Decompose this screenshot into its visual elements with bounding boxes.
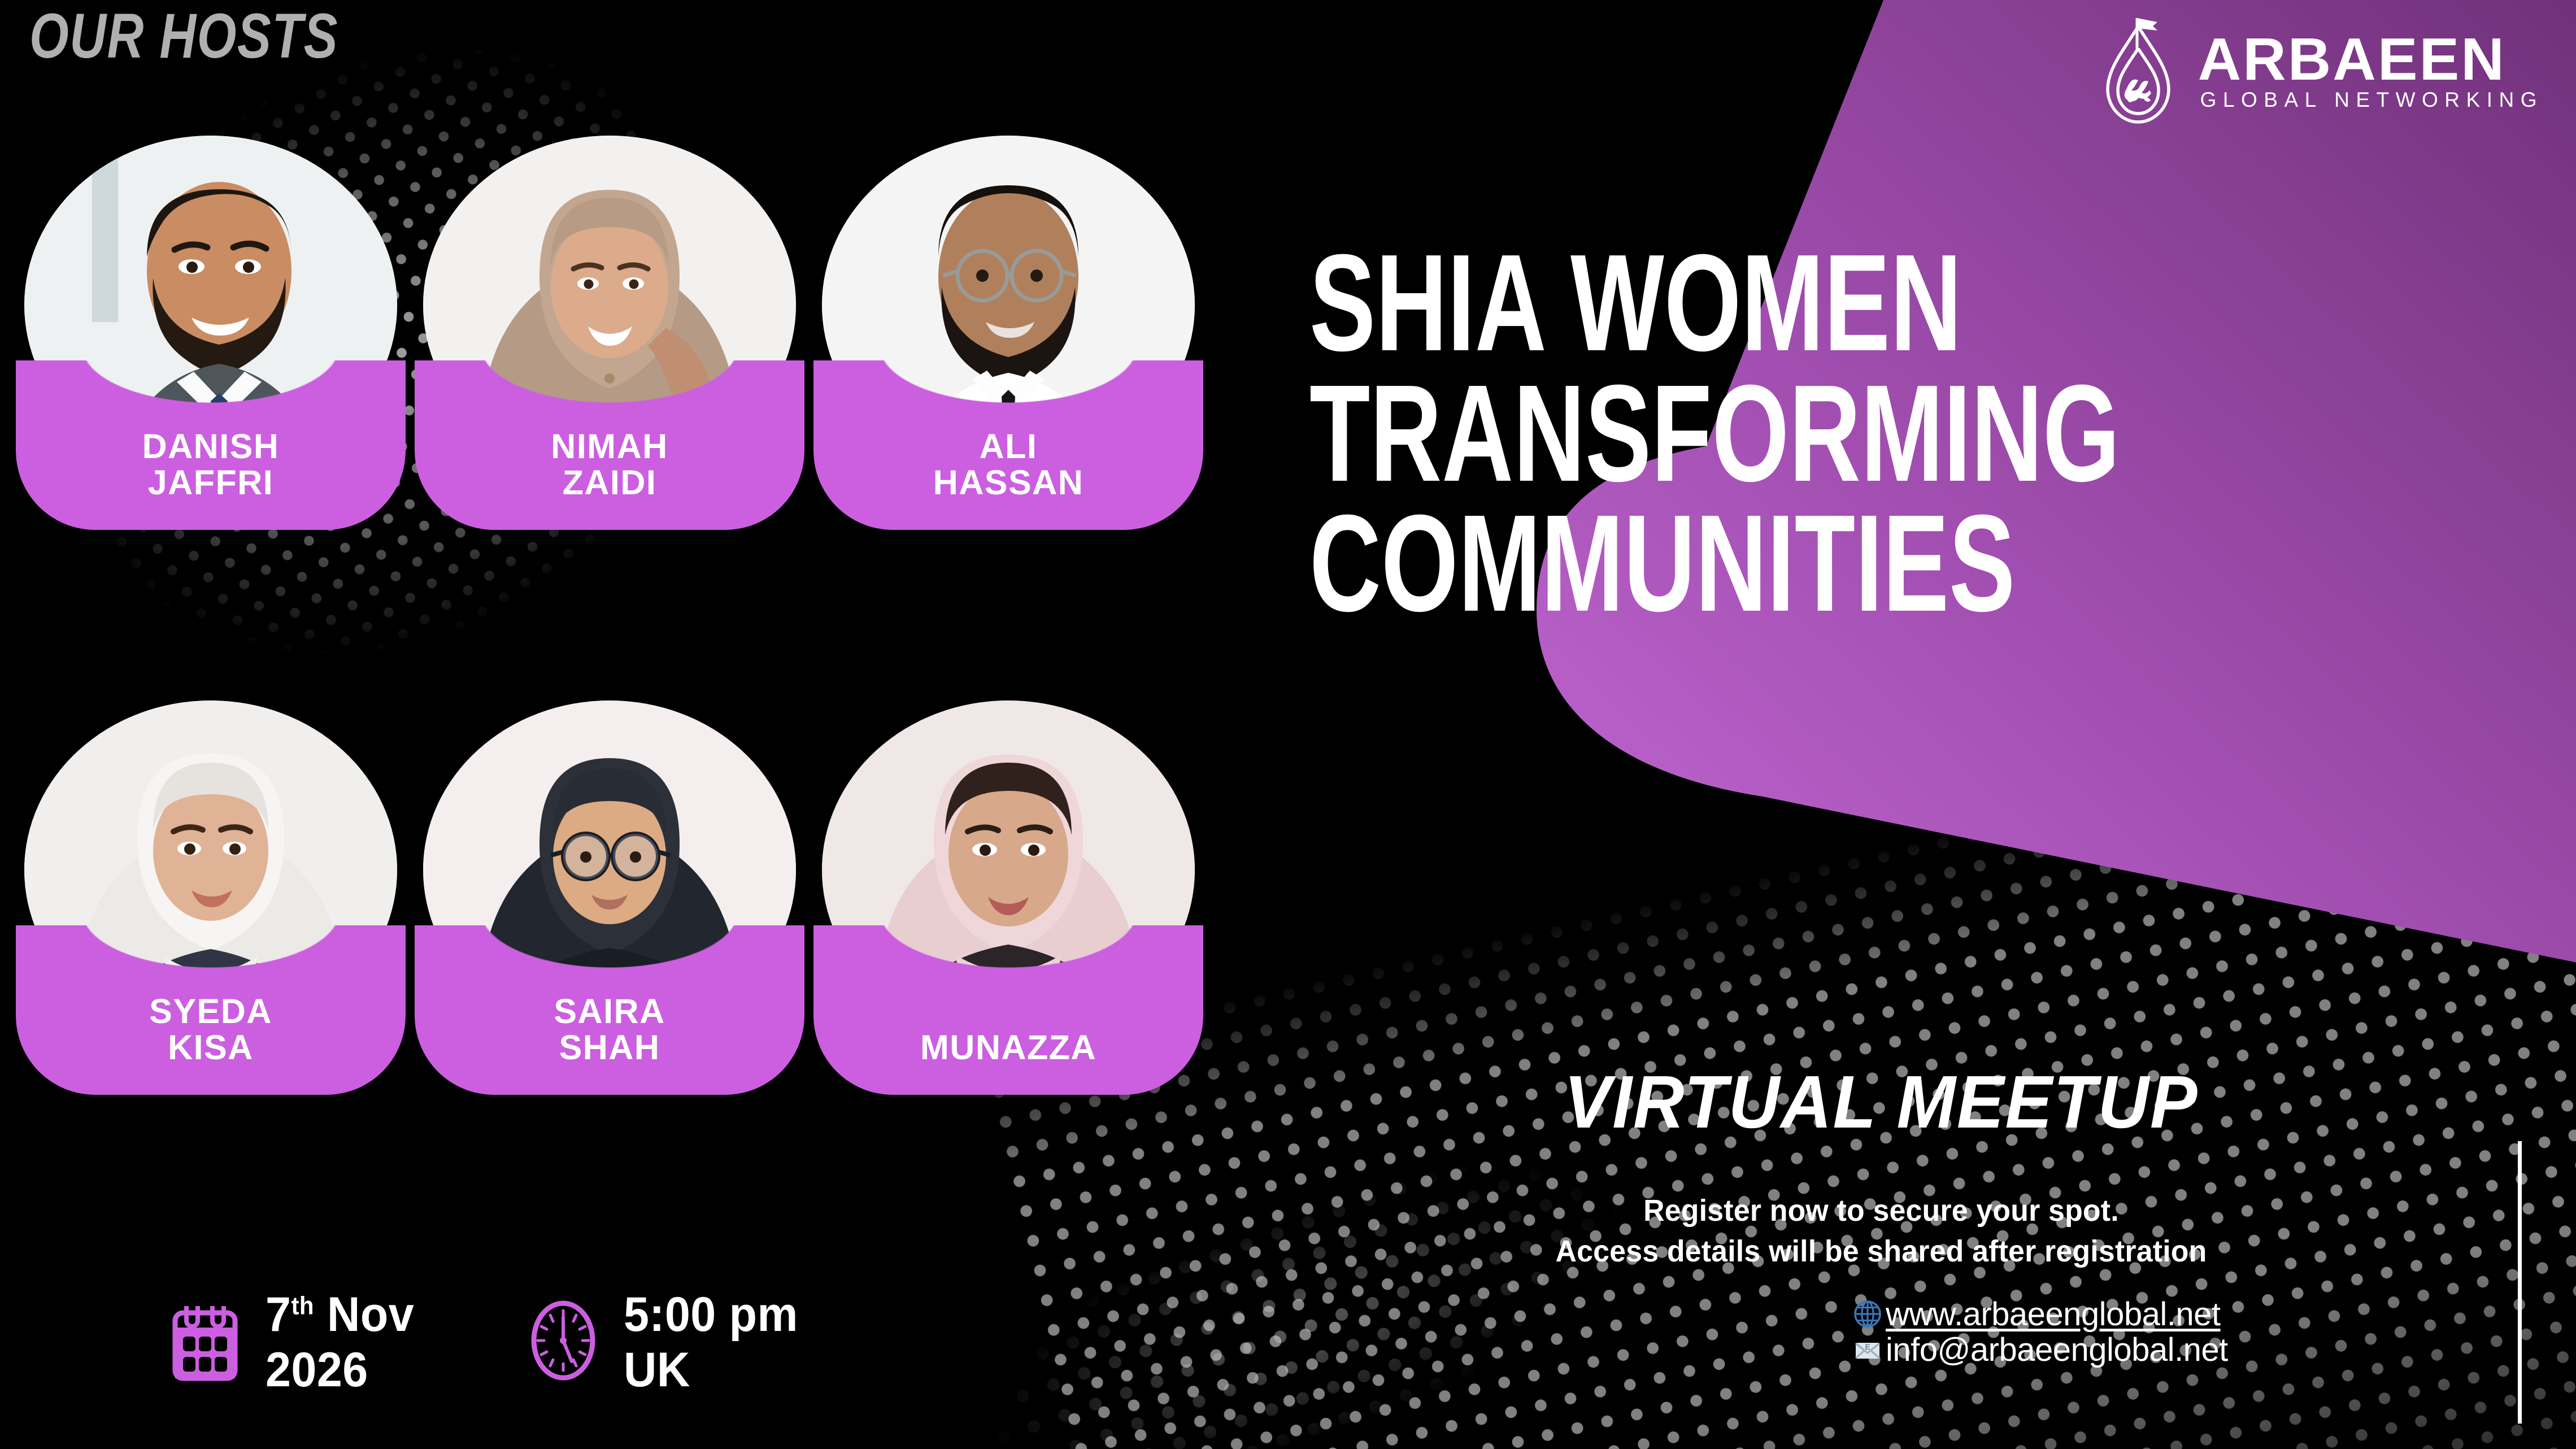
host-card-saira-shah[interactable]: SAIRA SHAH — [407, 700, 812, 1039]
host-card-munazza[interactable]: MUNAZZA — [806, 700, 1211, 1039]
event-time-item: 5:00 pm UK — [525, 1287, 810, 1398]
host-card-syeda-kisa[interactable]: SYEDA KISA — [8, 700, 414, 1039]
vertical-divider — [2518, 1141, 2522, 1424]
event-date-text: 7th Nov 2026 — [266, 1287, 414, 1398]
event-title: SHIA WOMEN TRANSFORMING COMMUNITIES — [1309, 236, 2524, 627]
host-nameplate-syeda-kisa: SYEDA KISA — [16, 925, 406, 1095]
host-nameplate-ali-hassan: ALI HASSAN — [813, 360, 1203, 530]
host-card-nimah-zaidi[interactable]: NIMAH ZAIDI — [407, 136, 812, 475]
brand-tagline: GLOBAL NETWORKING — [2198, 88, 2543, 112]
event-date-item: 7th Nov 2026 — [167, 1287, 424, 1398]
host-nameplate-danish-jaffri: DANISH JAFFRI — [16, 360, 406, 530]
globe-icon — [1853, 1299, 1882, 1329]
brand-logo: ARBAEEN GLOBAL NETWORKING — [2099, 16, 2543, 129]
event-format-label: VIRTUAL MEETUP — [1329, 1065, 2434, 1139]
host-card-danish-jaffri[interactable]: DANISH JAFFRI — [8, 136, 414, 475]
contact-email-text: info@arbaeenglobal.net — [1886, 1333, 2228, 1367]
calendar-icon — [167, 1298, 243, 1383]
host-nameplate-munazza: MUNAZZA — [813, 925, 1203, 1095]
host-name-nimah-zaidi: NIMAH ZAIDI — [551, 429, 668, 501]
event-title-line-1: SHIA WOMEN — [1309, 236, 2184, 370]
host-name-danish-jaffri: DANISH JAFFRI — [142, 429, 280, 501]
event-poster: OUR HOSTS ARBAEEN GLOBAL NETWORKING — [0, 0, 2576, 1449]
event-time-text: 5:00 pm UK — [624, 1287, 798, 1398]
host-name-munazza: MUNAZZA — [920, 1030, 1096, 1065]
section-label-our-hosts: OUR HOSTS — [29, 5, 338, 68]
contact-website-text: www.arbaeenglobal.net — [1886, 1297, 2220, 1331]
registration-note: Register now to secure your spot. Access… — [1322, 1190, 2440, 1272]
svg-text:E: E — [1865, 1342, 1870, 1351]
event-title-line-3: COMMUNITIES — [1309, 497, 2184, 630]
host-nameplate-nimah-zaidi: NIMAH ZAIDI — [415, 360, 804, 530]
event-title-line-2: TRANSFORMING — [1309, 367, 2184, 501]
date-time-bar: 7th Nov 2026 5:00 pm UK — [167, 1287, 809, 1398]
brand-wordmark: ARBAEEN GLOBAL NETWORKING — [2198, 32, 2543, 112]
clock-icon — [525, 1298, 601, 1383]
host-card-ali-hassan[interactable]: ALI HASSAN — [806, 136, 1211, 475]
contact-block: www.arbaeenglobal.net E info@arbaeenglob… — [1299, 1297, 2463, 1368]
contact-website-row[interactable]: www.arbaeenglobal.net — [1853, 1297, 2220, 1331]
host-name-syeda-kisa: SYEDA KISA — [149, 994, 272, 1065]
event-date-day: 7 — [266, 1287, 291, 1342]
host-name-ali-hassan: ALI HASSAN — [933, 429, 1084, 501]
event-details-block: VIRTUAL MEETUP Register now to secure yo… — [1299, 1065, 2463, 1368]
brand-name: ARBAEEN — [2198, 32, 2543, 88]
envelope-icon: E — [1853, 1335, 1882, 1365]
contact-email-row[interactable]: E info@arbaeenglobal.net — [1853, 1333, 2228, 1367]
event-date-ordinal: th — [291, 1292, 314, 1320]
host-nameplate-saira-shah: SAIRA SHAH — [415, 925, 804, 1095]
arbaeen-teardrop-logo-icon — [2099, 16, 2183, 129]
host-name-saira-shah: SAIRA SHAH — [554, 994, 665, 1065]
